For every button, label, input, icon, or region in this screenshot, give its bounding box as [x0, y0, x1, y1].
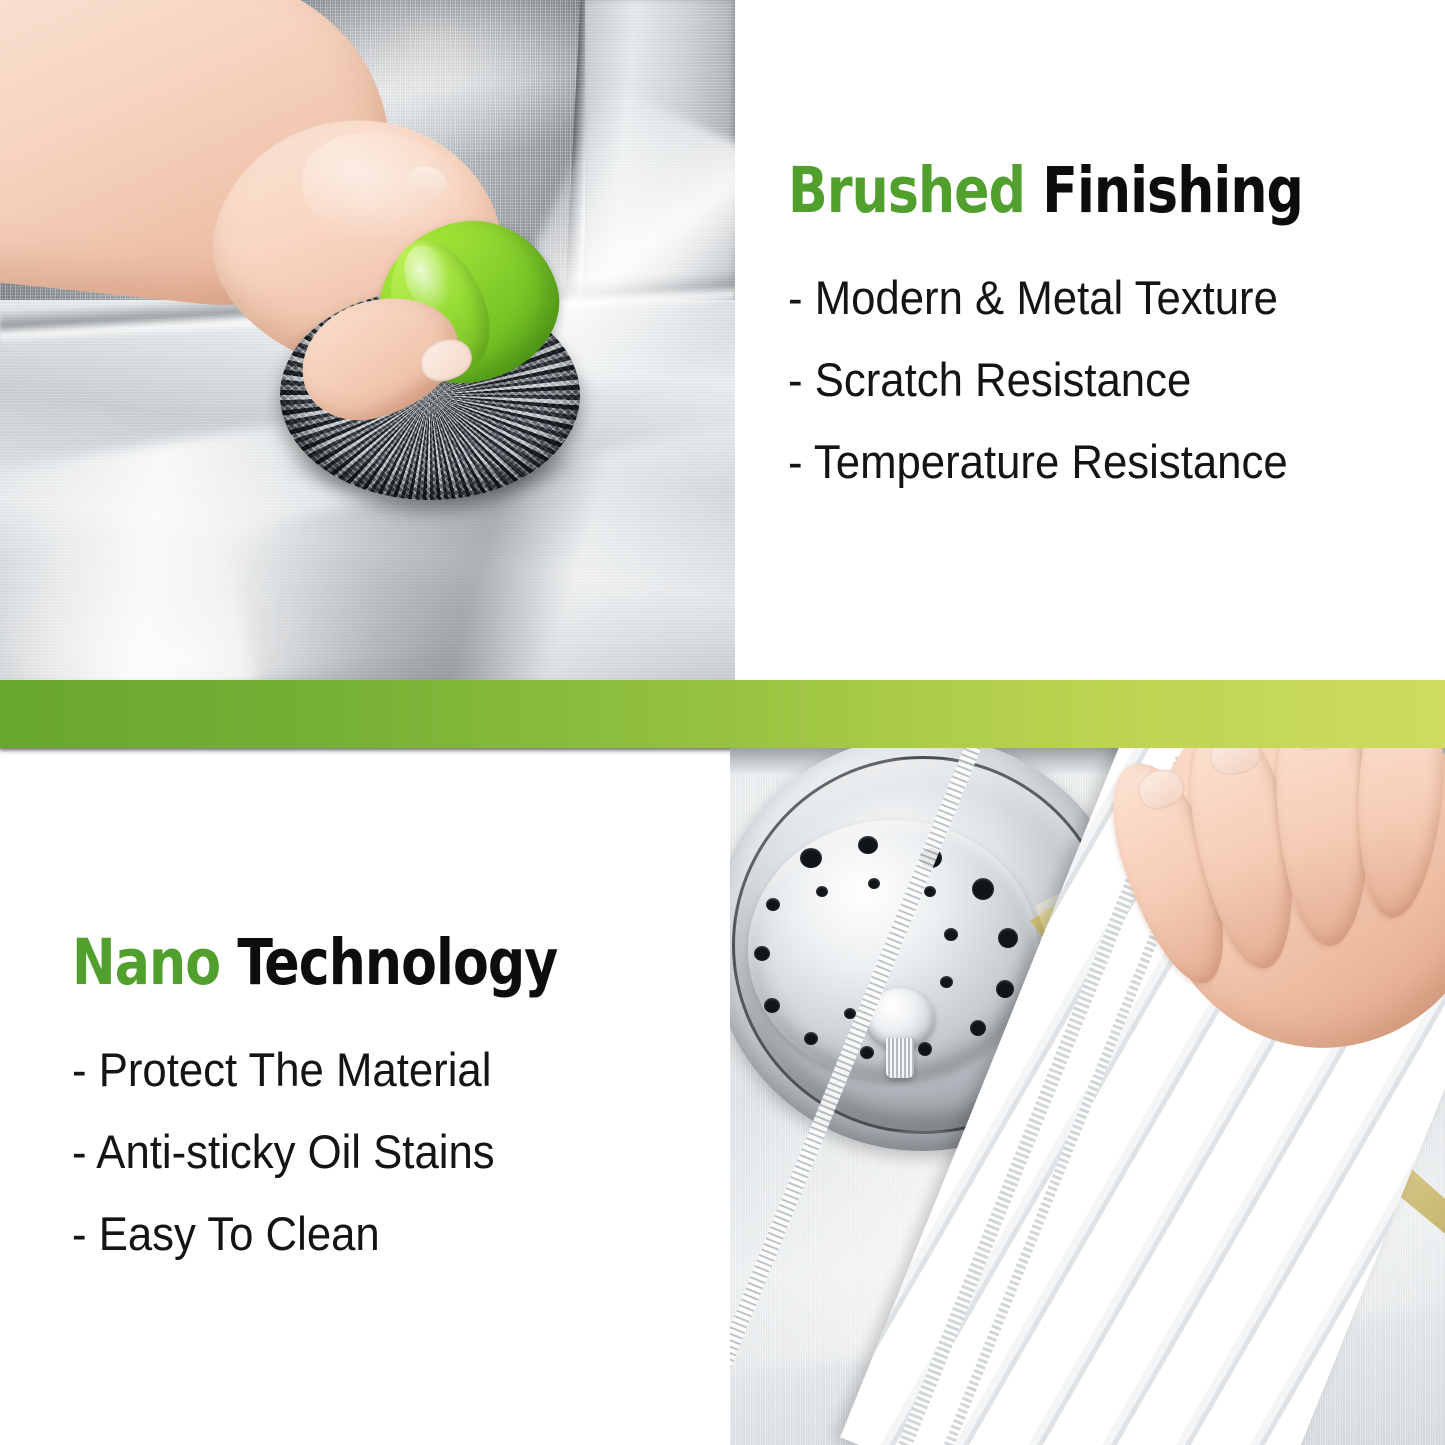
strainer-knob-stem — [886, 1038, 914, 1078]
photo-brushed-finishing — [0, 0, 735, 680]
strainer-hole — [858, 836, 878, 854]
heading-nano-technology: Nano Technology — [72, 930, 661, 996]
heading-nano-technology-black: Technology — [237, 926, 557, 999]
bullet-item: - Scratch Resistance — [788, 356, 1365, 403]
strainer-hole — [924, 886, 936, 897]
strainer-hole — [940, 976, 953, 988]
text-block-brushed-finishing: Brushed Finishing - Modern & Metal Textu… — [788, 158, 1408, 520]
strainer-hole — [996, 980, 1014, 998]
heading-brushed-finishing-green: Brushed — [788, 154, 1025, 227]
strainer-hole — [766, 898, 780, 911]
infographic-page: Brushed Finishing - Modern & Metal Textu… — [0, 0, 1445, 1445]
bullet-item: - Modern & Metal Texture — [788, 274, 1365, 321]
bullet-item: - Protect The Material — [72, 1046, 667, 1093]
strainer-hole — [998, 928, 1018, 948]
strainer-hole — [800, 848, 822, 868]
strainer-hole — [764, 998, 780, 1013]
text-block-nano-technology: Nano Technology - Protect The Material -… — [72, 930, 712, 1292]
photo-nano-technology — [730, 748, 1445, 1445]
heading-brushed-finishing: Brushed Finishing — [788, 158, 1358, 224]
bullet-item: - Easy To Clean — [72, 1210, 667, 1257]
strainer-hole — [972, 878, 994, 900]
bullet-item: - Temperature Resistance — [788, 438, 1365, 485]
heading-nano-technology-green: Nano — [72, 926, 220, 999]
strainer-hole — [970, 1020, 986, 1036]
strainer-hole — [944, 928, 958, 941]
strainer-hole — [804, 1032, 818, 1045]
strainer-hole — [860, 1046, 874, 1059]
bullet-item: - Anti-sticky Oil Stains — [72, 1128, 667, 1175]
strainer-hole — [754, 946, 770, 961]
strainer-hole — [816, 886, 828, 897]
strainer-hole — [918, 1042, 932, 1056]
bullet-list-brushed-finishing: - Modern & Metal Texture - Scratch Resis… — [788, 274, 1408, 485]
green-divider-band — [0, 680, 1445, 748]
heading-brushed-finishing-black: Finishing — [1042, 154, 1303, 227]
bullet-list-nano-technology: - Protect The Material - Anti-sticky Oil… — [72, 1046, 712, 1257]
strainer-hole — [868, 878, 880, 889]
